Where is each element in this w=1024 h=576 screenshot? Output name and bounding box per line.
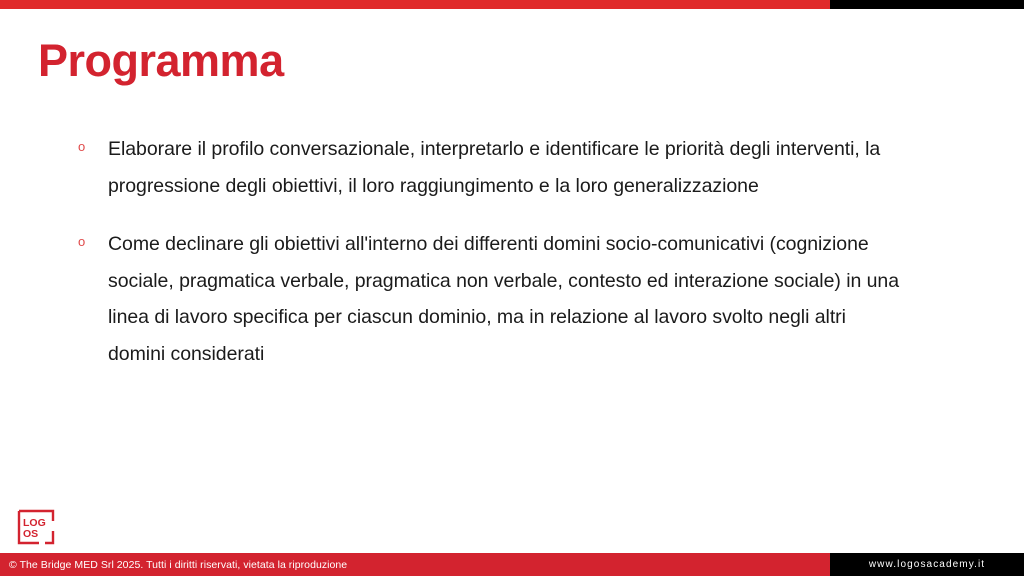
top-accent-bar-black (830, 0, 1024, 9)
bullet-circle-icon: o (64, 131, 108, 153)
list-item-text: Elaborare il profilo conversazionale, in… (108, 131, 908, 204)
website-url: www.logosacademy.it (869, 559, 985, 570)
logo-line-bottom: OS (23, 528, 38, 540)
slide-root: Programma o Elaborare il profilo convers… (0, 0, 1024, 576)
bullet-list: o Elaborare il profilo conversazionale, … (64, 131, 924, 394)
footer-left: © The Bridge MED Srl 2025. Tutti i dirit… (0, 553, 830, 576)
top-accent-bar (0, 0, 1024, 9)
list-item: o Elaborare il profilo conversazionale, … (64, 131, 924, 204)
footer-bar: © The Bridge MED Srl 2025. Tutti i dirit… (0, 553, 1024, 576)
footer-right: www.logosacademy.it (830, 553, 1024, 576)
copyright-text: © The Bridge MED Srl 2025. Tutti i dirit… (0, 559, 347, 571)
bullet-circle-icon: o (64, 226, 108, 248)
page-title: Programma (38, 36, 284, 86)
logos-logo: LOG OS (17, 509, 55, 545)
top-accent-bar-red (0, 0, 830, 9)
list-item: o Come declinare gli obiettivi all'inter… (64, 226, 924, 372)
list-item-text: Come declinare gli obiettivi all'interno… (108, 226, 908, 372)
